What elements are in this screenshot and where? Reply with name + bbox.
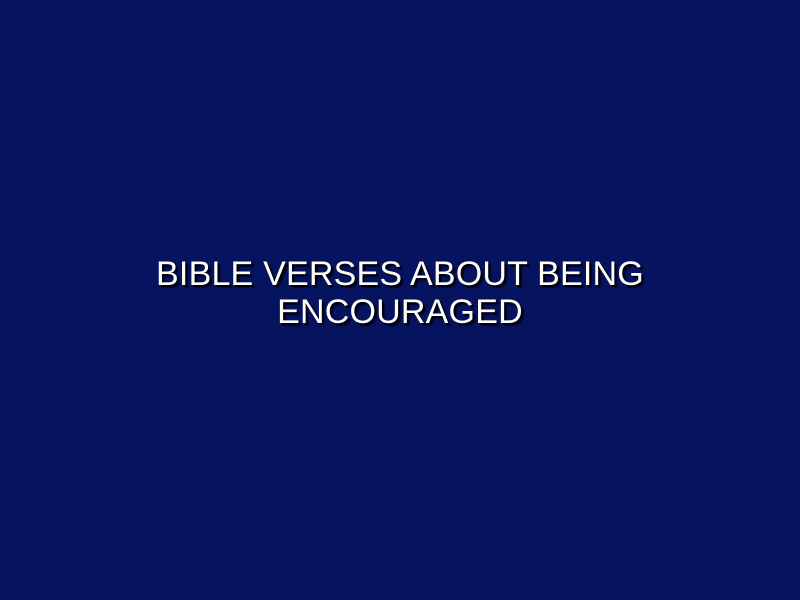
page-title: BIBLE VERSES ABOUT BEING ENCOURAGED bbox=[0, 255, 800, 331]
title-card: BIBLE VERSES ABOUT BEING ENCOURAGED bbox=[0, 0, 800, 600]
